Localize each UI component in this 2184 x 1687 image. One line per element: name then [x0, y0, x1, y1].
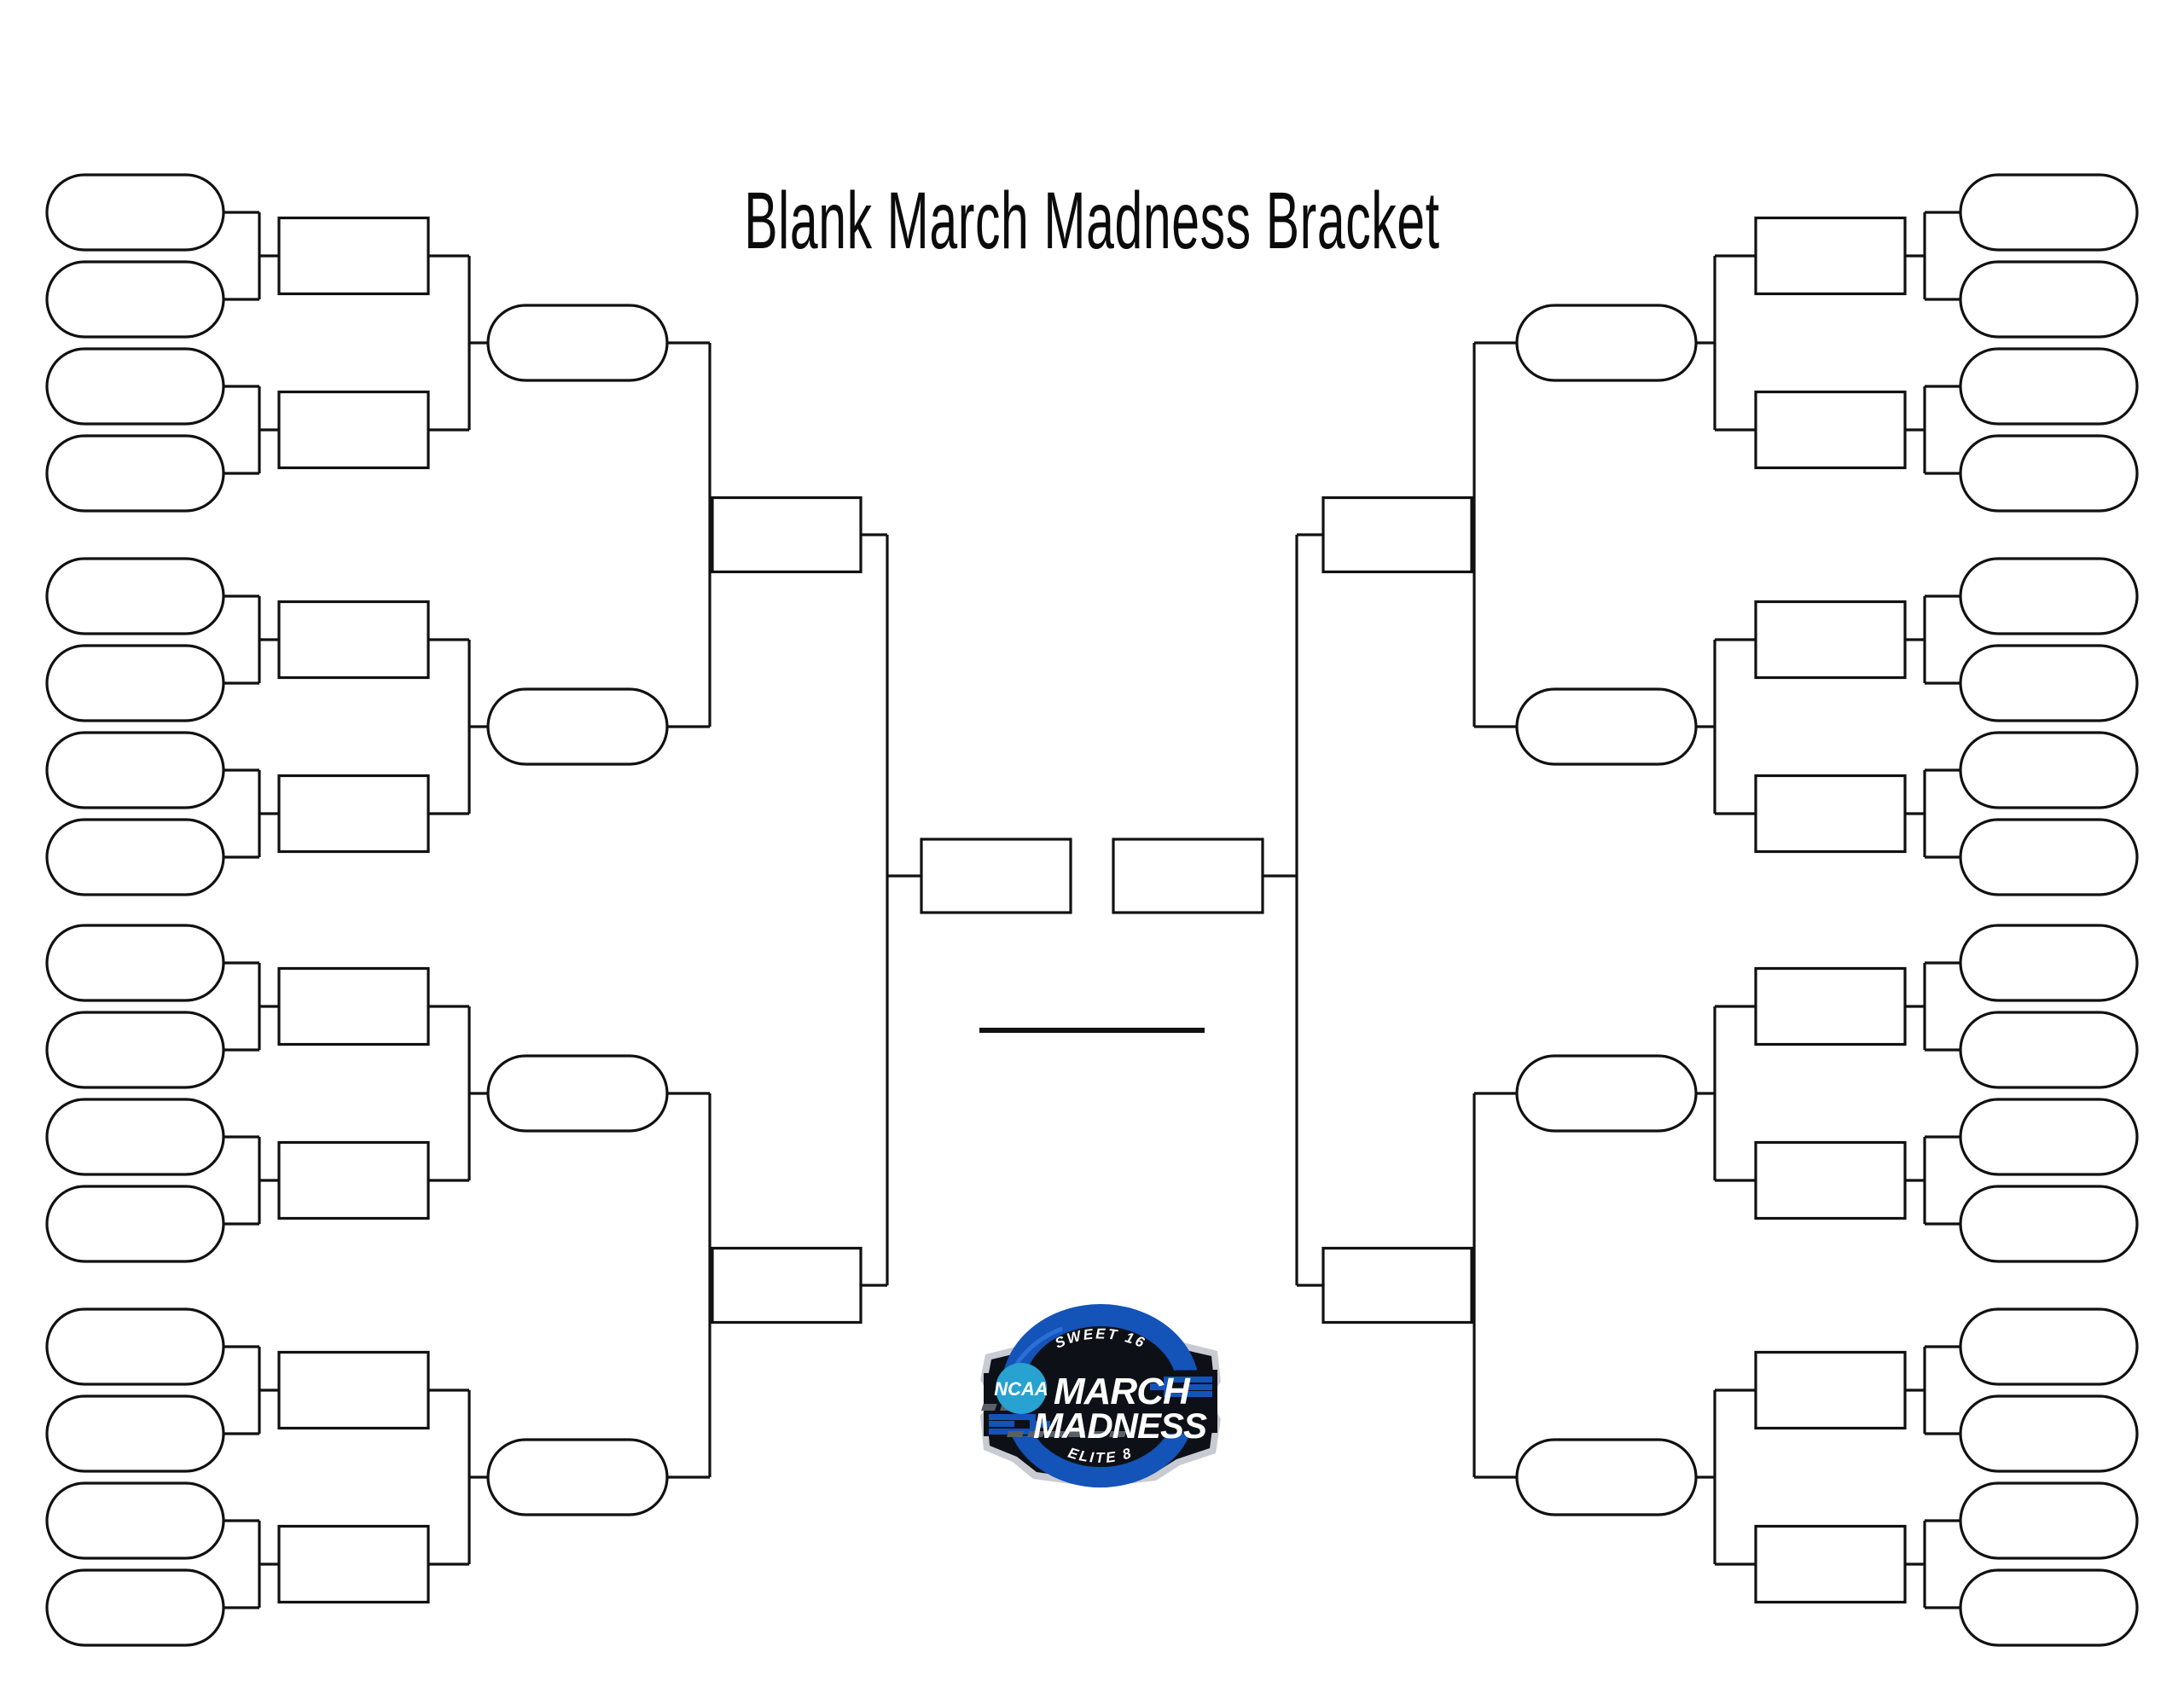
slot-round-of-64[interactable]: [1960, 1396, 2137, 1471]
slot-round-of-64[interactable]: [1960, 820, 2137, 895]
slot-round-of-32[interactable]: [1756, 969, 1905, 1045]
logo-word-madness: MADNESS: [1033, 1406, 1207, 1446]
slot-round-of-64[interactable]: [1960, 1186, 2137, 1261]
slot-round-of-64[interactable]: [1960, 646, 2137, 721]
ncaa-badge-label: NCAA: [994, 1378, 1048, 1400]
slot-round-of-64[interactable]: [47, 1570, 224, 1645]
slot-round-of-64[interactable]: [47, 1309, 224, 1384]
slot-round-of-32[interactable]: [1756, 1143, 1905, 1219]
slot-round-of-64[interactable]: [1960, 1309, 2137, 1384]
slot-round-of-64[interactable]: [1960, 262, 2137, 337]
slot-round-of-64[interactable]: [47, 1012, 224, 1087]
slot-round-of-64[interactable]: [47, 262, 224, 337]
slot-elite-8[interactable]: [712, 1249, 861, 1323]
slot-round-of-64[interactable]: [1960, 349, 2137, 424]
slot-round-of-64[interactable]: [47, 1396, 224, 1471]
slot-sweet-16[interactable]: [488, 305, 667, 380]
slot-elite-8[interactable]: [1323, 1249, 1472, 1323]
slot-round-of-64[interactable]: [47, 559, 224, 634]
slot-round-of-32[interactable]: [1756, 1527, 1905, 1603]
slot-round-of-64[interactable]: [1960, 175, 2137, 250]
slot-sweet-16[interactable]: [1517, 689, 1696, 764]
slot-round-of-64[interactable]: [47, 175, 224, 250]
slot-round-of-64[interactable]: [1960, 925, 2137, 1000]
slot-round-of-32[interactable]: [1756, 776, 1905, 852]
slot-round-of-64[interactable]: [1960, 436, 2137, 511]
slot-round-of-32[interactable]: [279, 392, 428, 468]
ncaa-march-madness-logo: NCAA MARCH MADNESS SWEET 16 ELITE 8: [968, 1303, 1233, 1499]
slot-round-of-64[interactable]: [1960, 1483, 2137, 1558]
slot-round-of-64[interactable]: [47, 349, 224, 424]
slot-round-of-32[interactable]: [1756, 1353, 1905, 1429]
slot-sweet-16[interactable]: [1517, 1440, 1696, 1515]
slot-sweet-16[interactable]: [488, 1056, 667, 1131]
slot-round-of-64[interactable]: [47, 820, 224, 895]
bracket-page: Blank March Madness Bracket: [0, 0, 2184, 1687]
slot-round-of-32[interactable]: [279, 602, 428, 678]
slot-round-of-64[interactable]: [47, 646, 224, 721]
slot-round-of-32[interactable]: [279, 1353, 428, 1429]
slot-final-four[interactable]: [1113, 839, 1263, 913]
slot-round-of-64[interactable]: [1960, 1099, 2137, 1174]
slot-sweet-16[interactable]: [1517, 1056, 1696, 1131]
slot-final-four[interactable]: [921, 839, 1071, 913]
slot-round-of-32[interactable]: [279, 1527, 428, 1603]
slot-round-of-64[interactable]: [47, 1186, 224, 1261]
slot-round-of-32[interactable]: [1756, 602, 1905, 678]
slot-sweet-16[interactable]: [488, 689, 667, 764]
slot-round-of-32[interactable]: [279, 218, 428, 294]
slot-round-of-64[interactable]: [47, 1099, 224, 1174]
slot-elite-8[interactable]: [1323, 498, 1472, 572]
slot-round-of-32[interactable]: [279, 969, 428, 1045]
slot-round-of-32[interactable]: [279, 776, 428, 852]
slot-round-of-32[interactable]: [1756, 392, 1905, 468]
slot-round-of-64[interactable]: [47, 733, 224, 808]
slot-round-of-64[interactable]: [1960, 733, 2137, 808]
slot-sweet-16[interactable]: [488, 1440, 667, 1515]
slot-round-of-64[interactable]: [1960, 1012, 2137, 1087]
slot-round-of-64[interactable]: [1960, 559, 2137, 634]
slot-elite-8[interactable]: [712, 498, 861, 572]
slot-round-of-32[interactable]: [279, 1143, 428, 1219]
slot-sweet-16[interactable]: [1517, 305, 1696, 380]
slot-round-of-64[interactable]: [47, 1483, 224, 1558]
slot-round-of-32[interactable]: [1756, 218, 1905, 294]
slot-round-of-64[interactable]: [47, 436, 224, 511]
slot-round-of-64[interactable]: [47, 925, 224, 1000]
slot-round-of-64[interactable]: [1960, 1570, 2137, 1645]
